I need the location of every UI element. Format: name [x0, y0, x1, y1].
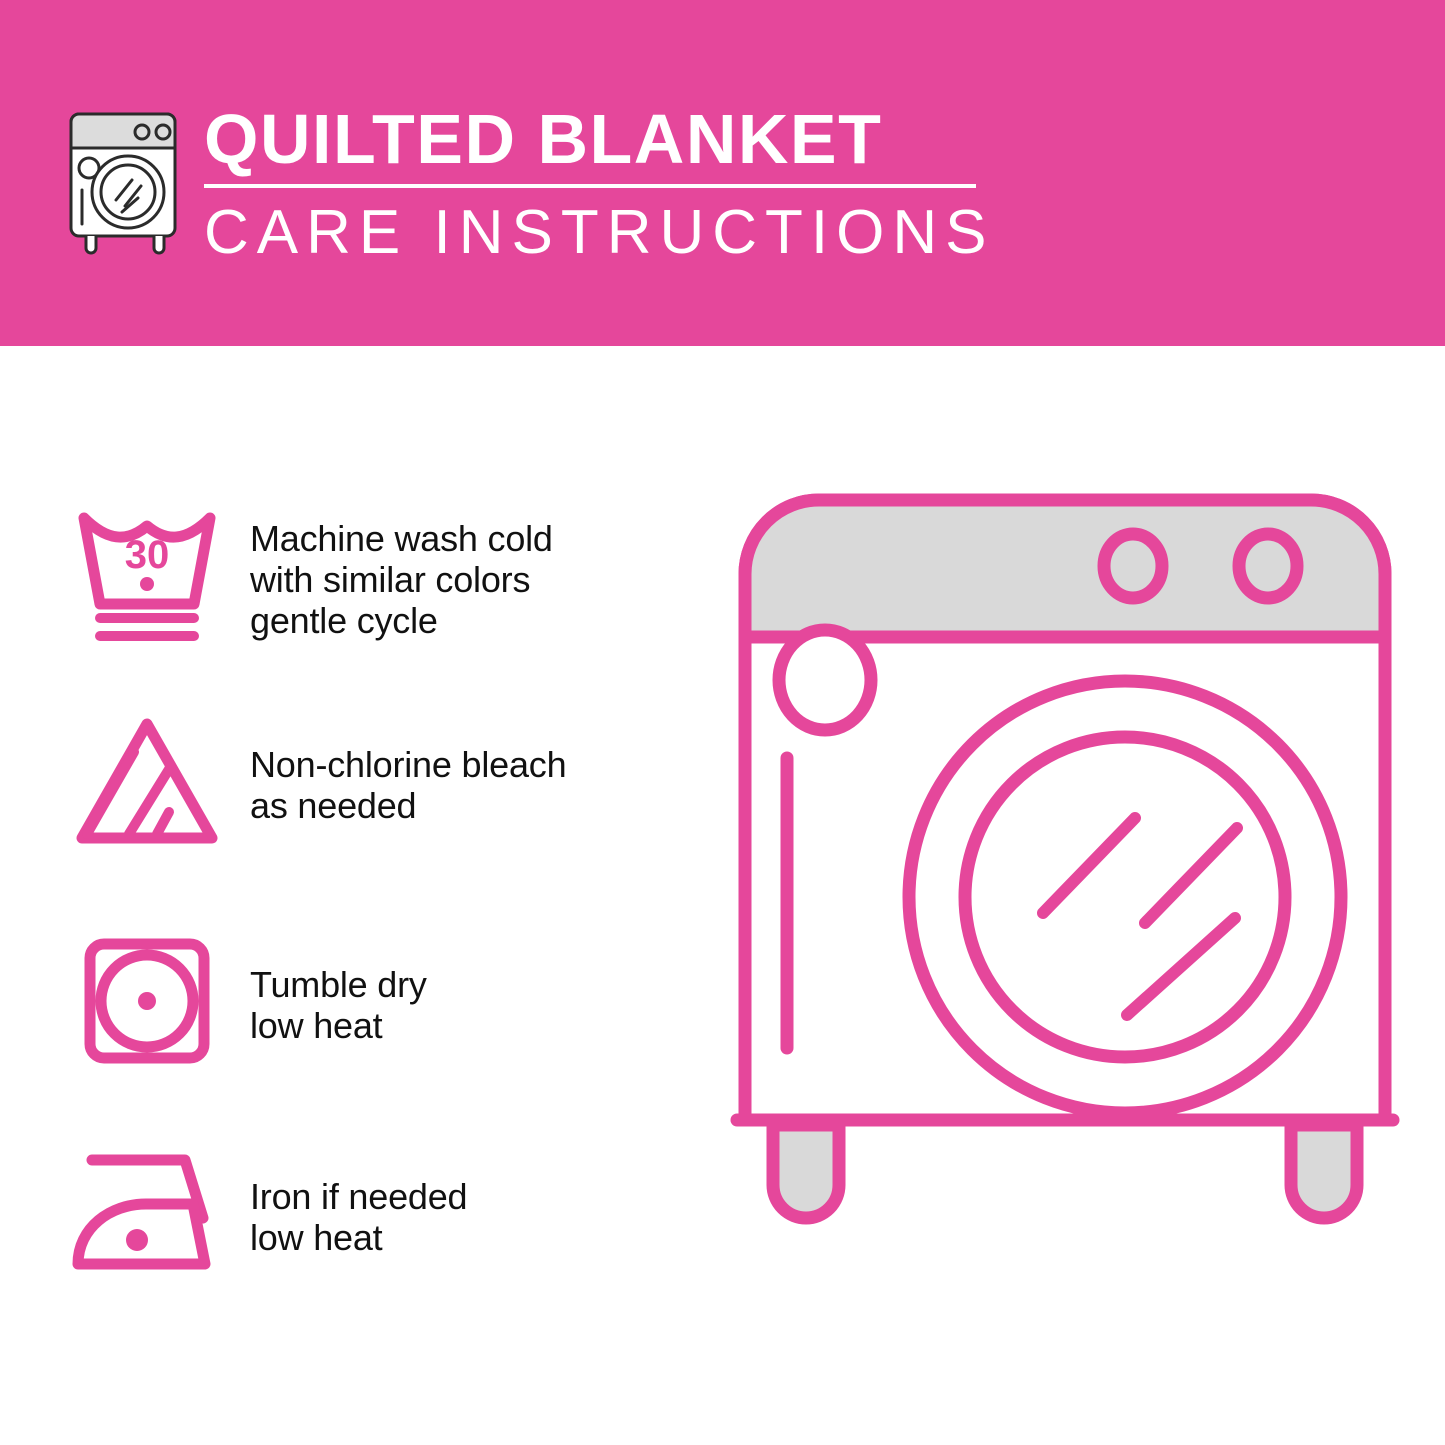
- washer-knob: [1239, 534, 1297, 598]
- care-text-line: low heat: [250, 1217, 692, 1258]
- page-subtitle: CARE INSTRUCTIONS: [204, 198, 994, 268]
- care-text-line: gentle cycle: [250, 600, 692, 641]
- care-text-line: Iron if needed: [250, 1176, 692, 1217]
- washing-machine-icon: [62, 106, 190, 256]
- page-header: QUILTED BLANKET CARE INSTRUCTIONS: [0, 0, 1445, 346]
- care-text-line: Tumble dry: [250, 964, 692, 1005]
- washer-knob: [1104, 534, 1162, 598]
- care-instruction-item: 30 Machine wash cold with similar colors…: [62, 496, 692, 646]
- washer-leg: [773, 1125, 839, 1218]
- care-instruction-item: Iron if needed low heat: [62, 1136, 692, 1286]
- care-instruction-text: Machine wash cold with similar colors ge…: [232, 496, 692, 641]
- care-text-line: as needed: [250, 785, 692, 826]
- care-instruction-item: Tumble dry low heat: [62, 926, 692, 1076]
- care-text-line: Non-chlorine bleach: [250, 744, 692, 785]
- care-text-line: with similar colors: [250, 559, 692, 600]
- care-instruction-text: Non-chlorine bleach as needed: [232, 706, 692, 826]
- svg-text:30: 30: [125, 533, 170, 577]
- care-instruction-list: 30 Machine wash cold with similar colors…: [0, 346, 700, 1445]
- page-title: QUILTED BLANKET: [204, 100, 994, 178]
- tumble-dry-icon: [62, 926, 232, 1076]
- washer-indicator: [779, 630, 871, 730]
- care-instruction-text: Iron if needed low heat: [232, 1136, 692, 1258]
- iron-icon: [62, 1136, 232, 1286]
- wash-tub-30-icon: 30: [62, 496, 232, 646]
- washing-machine-illustration: [715, 470, 1415, 1370]
- care-text-line: Machine wash cold: [250, 518, 692, 559]
- care-instructions-page: QUILTED BLANKET CARE INSTRUCTIONS 30: [0, 0, 1445, 1445]
- care-text-line: low heat: [250, 1005, 692, 1046]
- header-title-block: QUILTED BLANKET CARE INSTRUCTIONS: [204, 100, 994, 268]
- care-instruction-text: Tumble dry low heat: [232, 926, 692, 1046]
- washer-leg: [1291, 1125, 1357, 1218]
- bleach-triangle-icon: [62, 706, 232, 856]
- title-divider: [204, 184, 976, 188]
- care-instruction-item: Non-chlorine bleach as needed: [62, 706, 692, 856]
